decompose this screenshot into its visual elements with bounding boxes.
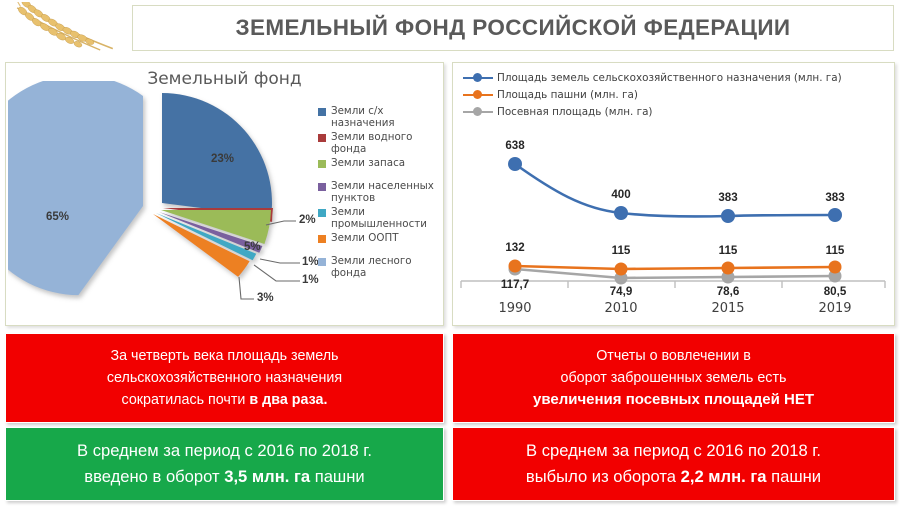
pie-label-reserve: 5% [244,241,261,253]
legend-item-forest: Земли лесного фонда [318,255,443,280]
page-title: ЗЕМЕЛЬНЫЙ ФОНД РОССИЙСКОЙ ФЕДЕРАЦИИ [235,15,790,41]
data-label-sown-1990: 117,7 [501,278,529,291]
wheat-ears-icon [4,2,124,54]
callout-tr-line1: Отчеты о вовлечении в [596,345,751,367]
legend-swatch-water [318,134,326,142]
series-line-agri-area [515,164,835,217]
callout-bottom-right: В среднем за период с 2016 по 2018 г. вы… [452,427,895,501]
callout-tl-line1: За четверть века площадь земель [110,345,338,367]
data-label-agri-2015: 383 [718,191,737,204]
pie-slice-forest [8,81,143,295]
pie-legend: Земли с/х назначения Земли водного фонда… [318,105,443,281]
line-chart-graphic: 638 400 383 383 132 115 115 115 117,7 74… [453,121,894,321]
legend-swatch-reserve [318,160,326,168]
callout-br-line1: В среднем за период с 2016 по 2018 г. [526,438,821,464]
legend-label-reserve: Земли запаса [331,157,405,169]
callout-bl-line2-plain-a: введено в оборот [84,467,224,486]
line-chart-panel: Площадь земель сельскохозяйственного наз… [452,62,895,326]
pie-label-protected: 3% [257,292,274,304]
pie-chart-panel: Земельный фонд [5,62,444,326]
data-label-arable-1990: 132 [505,241,524,254]
data-label-arable-2019: 115 [826,244,845,257]
callout-br-line2: выбыло из оборота 2,2 млн. га пашни [526,464,821,490]
callout-tr-line3: увеличения посевных площадей НЕТ [533,389,814,411]
callout-tr-line2: оборот заброшенных земель есть [561,367,787,389]
leader-line-settlements [260,259,300,263]
leader-line-industry [254,265,300,281]
legend-label-forest: Земли лесного фонда [331,255,443,280]
legend-label-agricultural: Земли с/х назначения [331,105,443,130]
legend-label-industry: Земли промышленности [331,206,443,231]
data-label-agri-2010: 400 [611,188,630,201]
pie-label-forest: 65% [46,211,69,223]
legend-item-water: Земли водного фонда [318,131,443,156]
legend-swatch-protected [318,235,326,243]
series-points-agri-area [508,157,842,223]
callout-bl-line2-plain-b: пашни [310,467,365,486]
x-tick-1990: 1990 [498,301,531,316]
leader-line-protected [239,277,254,299]
x-tick-2019: 2019 [818,301,851,316]
line-chart-legend: Площадь земель сельскохозяйственного наз… [463,69,842,120]
legend-label-water: Земли водного фонда [331,131,443,156]
x-tick-2010: 2010 [604,301,637,316]
data-label-arable-2010: 115 [612,244,631,257]
legend-swatch-industry [318,209,326,217]
callout-tl-line3-plain: сократилась почти [122,392,250,408]
legend-item-industry: Земли промышленности [318,206,443,231]
header: ЗЕМЕЛЬНЫЙ ФОНД РОССИЙСКОЙ ФЕДЕРАЦИИ [0,0,900,55]
legend-item-agri-area: Площадь земель сельскохозяйственного наз… [463,69,842,86]
callout-top-right: Отчеты о вовлечении в оборот заброшенных… [452,333,895,423]
callout-bl-line2-bold: 3,5 млн. га [224,467,310,486]
callout-br-line2-plain-b: пашни [767,467,822,486]
pie-label-settlements: 1% [302,256,319,268]
legend-item-agricultural: Земли с/х назначения [318,105,443,130]
callout-br-line2-plain-a: выбыло из оборота [526,467,681,486]
legend-label-settlements: Земли населенных пунктов [331,180,443,205]
series-line-sown [515,269,835,278]
pie-chart-graphic: 23% 2% 5% 1% 1% 3% 65% [8,81,318,321]
legend-item-settlements: Земли населенных пунктов [318,180,443,205]
legend-marker-sown [463,106,493,117]
legend-item-arable: Площадь пашни (млн. га) [463,86,842,103]
legend-swatch-agricultural [318,108,326,116]
data-label-sown-2010: 74,9 [610,285,633,298]
data-label-agri-1990: 638 [505,139,524,152]
x-tick-2015: 2015 [711,301,744,316]
pie-label-industry: 1% [302,274,319,286]
pie-label-agricultural: 23% [211,153,234,165]
legend-item-reserve: Земли запаса [318,157,443,169]
legend-item-sown: Посевная площадь (млн. га) [463,103,842,120]
callout-tl-line3: сократилась почти в два раза. [122,389,328,411]
callout-tl-line2: сельскохозяйственного назначения [107,367,342,389]
callout-bottom-left: В среднем за период с 2016 по 2018 г. вв… [5,427,444,501]
legend-marker-agri-area [463,72,493,83]
callout-top-left: За четверть века площадь земель сельскох… [5,333,444,423]
pie-label-water: 2% [299,214,316,226]
callout-br-line2-bold: 2,2 млн. га [681,467,767,486]
legend-swatch-forest [318,258,326,266]
callout-tl-line3-bold: в два раза. [249,392,327,408]
legend-label-sown: Посевная площадь (млн. га) [497,106,652,118]
callout-bl-line1: В среднем за период с 2016 по 2018 г. [77,438,372,464]
title-box: ЗЕМЕЛЬНЫЙ ФОНД РОССИЙСКОЙ ФЕДЕРАЦИИ [132,5,894,51]
slide-root: ЗЕМЕЛЬНЫЙ ФОНД РОССИЙСКОЙ ФЕДЕРАЦИИ Земе… [0,0,900,507]
legend-marker-arable [463,89,493,100]
legend-label-agri-area: Площадь земель сельскохозяйственного наз… [497,72,842,84]
legend-label-arable: Площадь пашни (млн. га) [497,89,638,101]
series-line-arable [515,266,835,269]
data-label-sown-2015: 78,6 [717,285,740,298]
legend-label-protected: Земли ООПТ [331,232,399,244]
data-label-agri-2019: 383 [825,191,844,204]
legend-item-protected: Земли ООПТ [318,232,443,244]
callout-bl-line2: введено в оборот 3,5 млн. га пашни [84,464,364,490]
legend-swatch-settlements [318,183,326,191]
data-label-arable-2015: 115 [719,244,738,257]
data-label-sown-2019: 80,5 [824,285,847,298]
